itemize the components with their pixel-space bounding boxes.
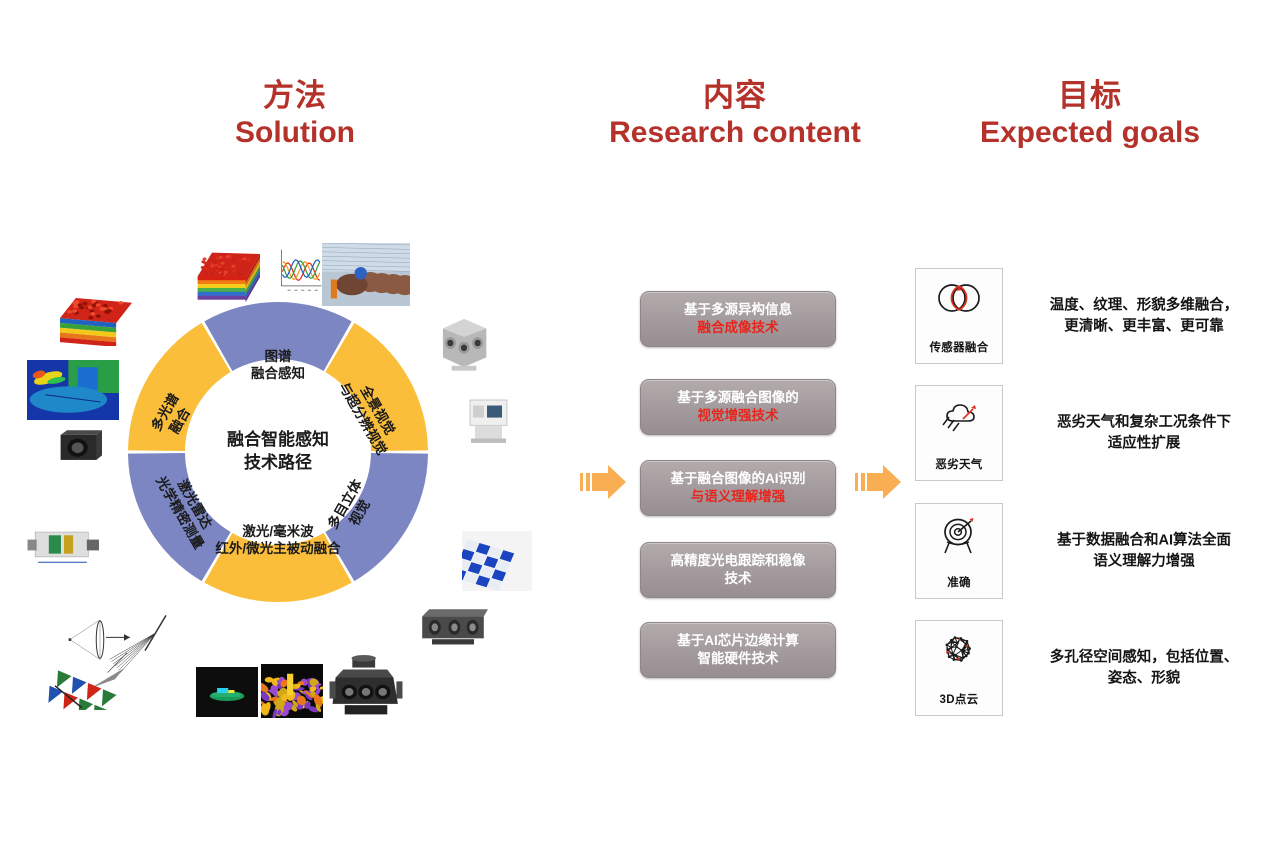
header-solution-cn: 方法 (160, 78, 430, 115)
diagram-canvas: 方法 Solution 内容 Research content 目标 Expec… (0, 0, 1268, 866)
header-content-cn: 内容 (600, 78, 870, 115)
goal-sensor-fusion-card[interactable]: 传感器融合 (915, 268, 1003, 364)
header-solution: 方法 Solution (160, 78, 430, 150)
goal-3d-pointcloud: 3D点云 多孔径空间感知，包括位置、 姿态、形貌 (915, 620, 1255, 716)
goal-3d-pointcloud-caption: 3D点云 (940, 691, 979, 707)
proc-ai-semantic-line2: 与语义理解增强 (691, 488, 786, 506)
goal-sensor-fusion: 传感器融合 温度、纹理、形貌多维融合， 更清晰、更丰富、更可靠 (915, 268, 1255, 364)
proc-tracking-stable-line1: 高精度光电跟踪和稳像 (671, 552, 806, 570)
goal-accuracy-card[interactable]: 准确 (915, 503, 1003, 599)
proc-ai-chip-edge-line2: 智能硬件技术 (698, 650, 779, 668)
proc-visual-enhance-line2: 视觉增强技术 (698, 407, 779, 425)
proc-fusion-imaging[interactable]: 基于多源异构信息 融合成像技术 (640, 291, 836, 347)
proc-visual-enhance[interactable]: 基于多源融合图像的 视觉增强技术 (640, 379, 836, 435)
goal-sensor-fusion-text: 温度、纹理、形貌多维融合， 更清晰、更丰富、更可靠 (1025, 295, 1263, 336)
goal-3d-pointcloud-text: 多孔径空间感知，包括位置、 姿态、形貌 (1025, 647, 1263, 688)
technology-roadmap-wheel: 图谱 融合感知 全景视觉 与超分辨视觉 多目立体 视觉 激光/毫米波 红外/微光… (128, 302, 428, 602)
header-goals-cn: 目标 (940, 78, 1240, 115)
seg-laser-mmwave-label: 激光/毫米波 红外/微光主被动融合 (215, 524, 340, 558)
structured-light-pattern-thumb (462, 531, 532, 591)
proc-ai-chip-edge-line1: 基于AI芯片边缘计算 (677, 632, 799, 650)
industrial-pipeline-photo-thumb (322, 243, 410, 306)
infrared-camera-thumb (56, 428, 102, 466)
proc-fusion-imaging-line2: 融合成像技术 (698, 319, 779, 337)
arrow-solution-to-content (576, 460, 632, 504)
goal-accuracy: 准确 基于数据融合和AI算法全面 语义理解力增强 (915, 503, 1255, 599)
seg-spectral-fusion-label: 图谱 融合感知 (251, 349, 305, 383)
spectral-slab-thumb (60, 298, 132, 346)
gimbal-sensor-turret-thumb (328, 655, 404, 721)
venn-circles-icon (933, 278, 985, 322)
wheel-center-line1: 融合智能感知 (193, 429, 363, 452)
wheel-center-line2: 技术路径 (193, 452, 363, 475)
proc-ai-semantic-line1: 基于融合图像的AI识别 (671, 470, 806, 488)
thermal-scene-image-thumb (261, 664, 323, 718)
proc-ai-semantic[interactable]: 基于融合图像的AI识别 与语义理解增强 (640, 460, 836, 516)
header-content-en: Research content (600, 115, 870, 150)
laser-scanner-device-thumb (463, 389, 513, 444)
spectrometer-module-thumb (26, 518, 102, 572)
lowlight-vehicle-image-thumb (196, 667, 258, 717)
proc-ai-chip-edge[interactable]: 基于AI芯片边缘计算 智能硬件技术 (640, 622, 836, 678)
goal-3d-pointcloud-card[interactable]: 3D点云 (915, 620, 1003, 716)
target-bullseye-icon (933, 513, 985, 557)
point-cloud-sphere-icon (933, 630, 985, 674)
goal-bad-weather: 恶劣天气 恶劣天气和复杂工况条件下 适应性扩展 (915, 385, 1255, 481)
arrow-content-to-goals (851, 460, 907, 504)
panoramic-camera-rig-thumb (433, 313, 495, 373)
proc-fusion-imaging-line1: 基于多源异构信息 (684, 301, 792, 319)
header-goals-en: Expected goals (940, 115, 1240, 150)
header-research-content: 内容 Research content (600, 78, 870, 150)
proc-tracking-stable[interactable]: 高精度光电跟踪和稳像 技术 (640, 542, 836, 598)
spectral-curve-plot-thumb (272, 243, 324, 298)
proc-tracking-stable-line2: 技术 (725, 570, 752, 588)
goal-bad-weather-caption: 恶劣天气 (935, 456, 982, 472)
stereo-camera-module-thumb (418, 604, 488, 648)
goal-accuracy-caption: 准确 (947, 574, 971, 590)
thermal-infrared-image-thumb (27, 360, 119, 420)
proc-visual-enhance-line1: 基于多源融合图像的 (677, 389, 799, 407)
optical-ray-diagram-thumb (40, 600, 190, 710)
hyperspectral-cube-thumb (188, 240, 268, 310)
header-expected-goals: 目标 Expected goals (940, 78, 1240, 150)
goal-accuracy-text: 基于数据融合和AI算法全面 语义理解力增强 (1025, 530, 1263, 571)
header-solution-en: Solution (160, 115, 430, 150)
goal-bad-weather-card[interactable]: 恶劣天气 (915, 385, 1003, 481)
goal-bad-weather-text: 恶劣天气和复杂工况条件下 适应性扩展 (1025, 412, 1263, 453)
wheel-center-title: 融合智能感知 技术路径 (193, 429, 363, 475)
rain-cloud-icon (933, 395, 985, 439)
goal-sensor-fusion-caption: 传感器融合 (930, 339, 989, 355)
